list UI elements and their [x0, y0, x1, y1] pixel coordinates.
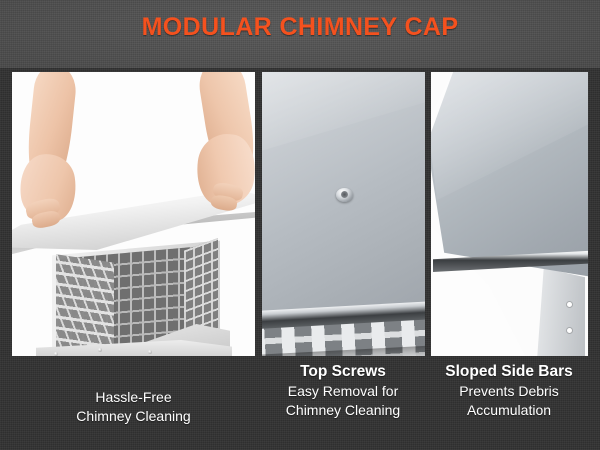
base-rivet [98, 348, 102, 352]
caption-line-1: Hassle-Free [12, 388, 255, 407]
caption-panel-1: Hassle-Free Chimney Cleaning [12, 388, 255, 426]
caption-panel-3: Sloped Side Bars Prevents Debris Accumul… [428, 362, 590, 420]
caption-line-1: Easy Removal for [258, 382, 428, 401]
caption-heading: Sloped Side Bars [428, 362, 590, 382]
caption-heading: Top Screws [258, 362, 428, 382]
base-rivet [148, 350, 152, 354]
product-feature-infographic: MODULAR CHIMNEY CAP [0, 0, 600, 450]
caption-line-1: Prevents Debris [428, 382, 590, 401]
feature-image-top-screws [262, 72, 425, 356]
top-screw-icon [336, 188, 353, 202]
feature-image-sloped-side-bars [431, 72, 588, 356]
side-bar-hole [567, 328, 572, 333]
cage-mesh-left [56, 254, 114, 356]
lid-highlight [262, 72, 425, 168]
base-rivet [54, 352, 58, 356]
feature-image-hassle-free-cleaning [12, 72, 255, 356]
caption-line-2: Chimney Cleaning [258, 401, 428, 420]
cap-lid-surface [262, 72, 425, 316]
side-bar-hole [567, 302, 572, 307]
caption-panel-2: Top Screws Easy Removal for Chimney Clea… [258, 362, 428, 420]
caption-line-2: Accumulation [428, 401, 590, 420]
sloped-side-bar [537, 268, 585, 356]
caption-line-2: Chimney Cleaning [12, 407, 255, 426]
page-title: MODULAR CHIMNEY CAP [0, 13, 600, 42]
